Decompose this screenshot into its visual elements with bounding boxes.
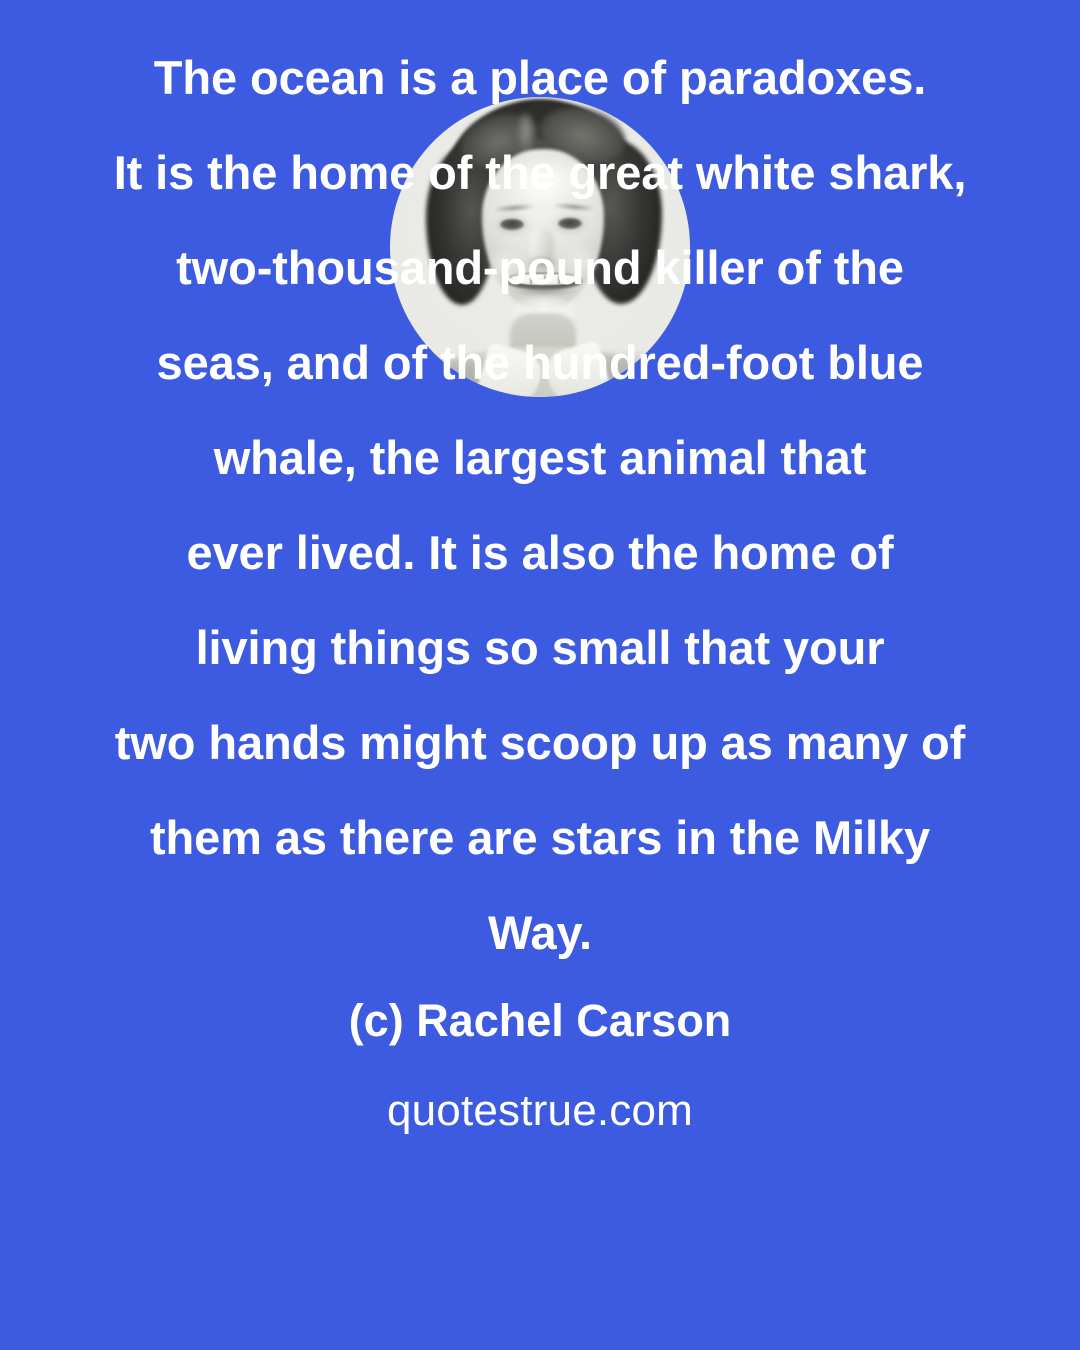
- quote-line: It is the home of the great white shark,: [0, 125, 1080, 220]
- quote-line: seas, and of the hundred-foot blue: [0, 315, 1080, 410]
- quote-line: two-thousand-pound killer of the: [0, 220, 1080, 315]
- quote-line: Way.: [0, 885, 1080, 980]
- quote-line: ever lived. It is also the home of: [0, 505, 1080, 600]
- quote-line: two hands might scoop up as many of: [0, 695, 1080, 790]
- source-website: quotestrue.com: [0, 1086, 1080, 1136]
- quote-line: whale, the largest animal that: [0, 410, 1080, 505]
- quote-card: The ocean is a place of paradoxes. It is…: [0, 0, 1080, 1350]
- quote-text: The ocean is a place of paradoxes. It is…: [0, 0, 1080, 980]
- quote-line: living things so small that your: [0, 600, 1080, 695]
- author-attribution: (c) Rachel Carson: [0, 995, 1080, 1047]
- quote-line: The ocean is a place of paradoxes.: [0, 30, 1080, 125]
- quote-line: them as there are stars in the Milky: [0, 790, 1080, 885]
